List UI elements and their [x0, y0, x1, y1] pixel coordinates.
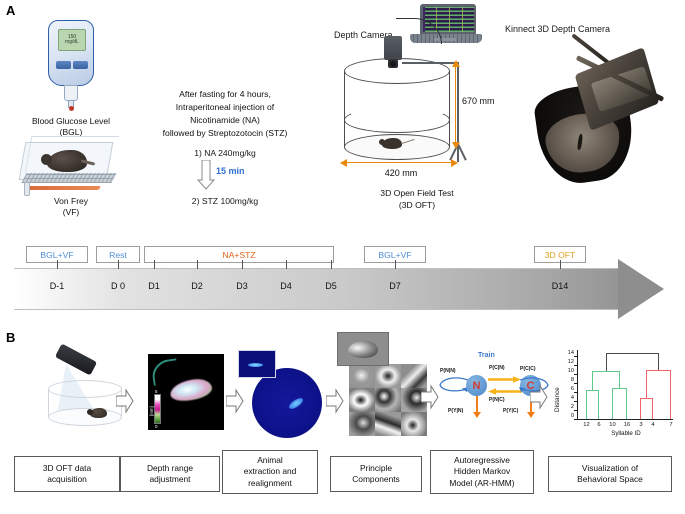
- dendrogram-merge-green-root: [592, 371, 620, 372]
- dendrogram-ytick: 4: [558, 395, 574, 401]
- pipeline-caption-2: Depth range adjustment: [120, 456, 220, 492]
- dendrogram-x-axis: [577, 419, 673, 420]
- dendrogram-ytick: 2: [558, 404, 574, 410]
- caption-3-line3: realignment: [244, 478, 297, 489]
- hmm-p-yn-label: P(Y|N): [448, 408, 463, 414]
- timeline-arrowhead: [618, 259, 664, 319]
- mouse-tail-depth: [150, 358, 179, 385]
- dendrogram-leaf-label: 16: [619, 422, 635, 428]
- pc-cell: [375, 412, 401, 436]
- timeline-day-label: D3: [222, 281, 262, 291]
- caption-2-line1: Depth range: [147, 463, 193, 474]
- pc-cell: [349, 412, 375, 436]
- pc-cell: [375, 364, 401, 388]
- timeline-tick: [242, 260, 243, 269]
- timeline-day-label: D14: [540, 281, 580, 291]
- protocol-line2: Intraperitoneal injection of: [126, 101, 324, 114]
- panel-b-letter: B: [6, 330, 15, 345]
- extraction-inset-blob: [248, 363, 263, 367]
- dendrogram-link-leaf-6: [598, 390, 599, 419]
- vf-mouse-icon: [47, 150, 87, 172]
- dendrogram-link-leaf-7: [670, 370, 671, 419]
- protocol-text-block: After fasting for 4 hours, Intraperitone…: [126, 88, 324, 140]
- height-dimension-label: 670 mm: [462, 96, 495, 106]
- dendrogram-ytick: 12: [558, 359, 574, 365]
- experiment-timeline: BGL+VF Rest NA+STZ BGL+VF 3D OFT D-1 D 0…: [14, 268, 664, 310]
- vf-caption: Von Frey (VF): [16, 196, 126, 219]
- pc-cell: [349, 364, 375, 388]
- pipeline-arrow-icon: [116, 388, 134, 414]
- dendrogram-y-axis: [577, 350, 578, 420]
- arena-rim-top: [48, 380, 122, 398]
- glucometer-neck: [64, 85, 78, 101]
- hmm-p-cc-label: P(C|C): [520, 366, 536, 372]
- caption-1-line1: 3D OFT data: [43, 463, 91, 474]
- caption-2-line2: adjustment: [147, 474, 193, 485]
- depth-scale-unit: [mm]: [149, 406, 154, 416]
- timeline-day-label: D-1: [37, 281, 77, 291]
- dim-arrow-up-icon: [451, 60, 461, 68]
- dendrogram-link-cluster-b: [619, 371, 620, 388]
- height-dimension-line: [455, 66, 456, 144]
- dendrogram-ytick-mark: [574, 401, 577, 402]
- oft-caption-line2: (3D OFT): [352, 200, 482, 212]
- depth-camera-icon: [384, 36, 402, 60]
- glucometer-reading-unit: mg/dL: [65, 40, 79, 45]
- pipeline-arrow-icon: [530, 384, 548, 410]
- arena-inner-rim: [344, 107, 450, 133]
- kinect-camera-label: Kinnect 3D Depth Camera: [505, 24, 610, 34]
- pipeline-arrow-icon: [326, 388, 344, 414]
- stand-vertical-pole: [457, 62, 459, 146]
- caption-1-line2: acquisition: [43, 474, 91, 485]
- dendrogram-ytick-mark: [574, 374, 577, 375]
- timeline-tick: [118, 260, 119, 269]
- caption-5-line3: Model (AR-HMM): [449, 478, 514, 489]
- dendrogram-link-leaf-16: [626, 388, 627, 419]
- timeline-event-na-stz[interactable]: NA+STZ: [144, 246, 334, 263]
- dendrogram-leaf-label: 10: [605, 422, 620, 428]
- glucometer-button-right: [73, 61, 88, 69]
- arena-rim-bottom: [48, 408, 122, 426]
- dendrogram-link-cluster-c: [646, 370, 647, 398]
- dendrogram-leaf-label: 7: [664, 422, 678, 428]
- dendrogram-ytick-mark: [574, 365, 577, 366]
- hmm-p-nn-label: P(N|N): [440, 368, 456, 374]
- dendrogram-leaf-label: 6: [592, 422, 606, 428]
- depth-scale-max: 5: [155, 389, 157, 394]
- dendrogram-chart: Distance 0 2 4 6 8 10 12 14 12 6 10 16 3…: [552, 348, 678, 440]
- caption-3-line1: Animal: [244, 455, 297, 466]
- extraction-arena-mask: [252, 368, 322, 438]
- timeline-day-label: D 0: [98, 281, 138, 291]
- caption-6-line1: Visualization of: [577, 463, 643, 474]
- dendrogram-link-leaf-4: [652, 398, 653, 419]
- vf-mesh-floor: [21, 173, 116, 183]
- timeline-tick: [331, 260, 332, 269]
- dendrogram-merge-red-root: [646, 370, 671, 371]
- dendrogram-merge-12-6: [586, 390, 599, 391]
- arena-mouse-icon: [382, 138, 402, 149]
- arena-wall-right: [449, 71, 450, 147]
- width-dimension-label: 420 mm: [358, 168, 444, 178]
- pipeline-caption-1: 3D OFT data acquisition: [14, 456, 120, 492]
- pipeline-caption-4: Principle Components: [330, 456, 422, 492]
- dendrogram-merge-root: [606, 353, 659, 354]
- caption-3-line2: extraction and: [244, 466, 297, 477]
- dendrogram-ytick: 8: [558, 377, 574, 383]
- width-dimension-line: [345, 162, 453, 163]
- timeline-tick: [395, 260, 396, 269]
- panel-a-letter: A: [6, 3, 15, 18]
- glucometer-body: 150 mg/dL: [48, 20, 94, 86]
- protocol-step-2: 2) STZ 100mg/kg: [126, 196, 324, 206]
- extraction-inset: [238, 350, 276, 378]
- hmm-node-n: N: [466, 375, 487, 396]
- hmm-emission-c-arrowhead-icon: [527, 412, 535, 418]
- down-arrow-icon: [197, 160, 215, 190]
- dendrogram-leaf-label: 4: [646, 422, 660, 428]
- open-field-test-diagram: [330, 52, 490, 172]
- pipeline-image-depth-range: 5 0 [mm]: [148, 354, 224, 430]
- dendrogram-ytick-mark: [574, 419, 577, 420]
- dendrogram-link-root-right: [658, 353, 659, 370]
- bgl-caption-line1: Blood Glucose Level: [2, 116, 140, 127]
- vf-caption-line1: Von Frey: [16, 196, 126, 207]
- glucometer-button-left: [56, 61, 71, 69]
- pc-template-inset: [337, 332, 389, 366]
- dendrogram-ytick: 10: [558, 368, 574, 374]
- blood-drop-icon: [69, 106, 74, 111]
- vf-caption-line2: (VF): [16, 207, 126, 218]
- timeline-day-label: D2: [177, 281, 217, 291]
- glucometer-screen: 150 mg/dL: [58, 29, 86, 51]
- hmm-p-nc-label: P(N|C): [489, 397, 505, 403]
- dendrogram-xlabel: Syllable ID: [578, 430, 674, 437]
- timeline-tick: [286, 260, 287, 269]
- pc-grid: [349, 364, 427, 436]
- timeline-tick: [197, 260, 198, 269]
- protocol-step-1: 1) NA 240mg/kg: [126, 148, 324, 158]
- dendrogram-ytick: 14: [558, 350, 574, 356]
- hmm-emission-n-arrowhead-icon: [473, 412, 481, 418]
- interval-label: 15 min: [216, 166, 245, 176]
- pipeline-caption-5: Autoregressive Hidden Markov Model (AR-H…: [430, 450, 534, 494]
- protocol-line1: After fasting for 4 hours,: [126, 88, 324, 101]
- hmm-p-yc-label: P(Y|C): [503, 408, 518, 414]
- kinect-camera-photo: [520, 38, 670, 188]
- caption-6-line2: Behavioral Space: [577, 474, 643, 485]
- pipeline-image-animal-extraction: [238, 350, 330, 436]
- dim-arrow-down-icon: [451, 141, 461, 149]
- oft-caption: 3D Open Field Test (3D OFT): [352, 188, 482, 211]
- vf-stand: [24, 182, 30, 196]
- protocol-line4: followed by Streptozotocin (STZ): [126, 127, 324, 140]
- dendrogram-merge-10-16: [612, 388, 627, 389]
- dendrogram-ytick-mark: [574, 392, 577, 393]
- protocol-line3: Nicotinamide (NA): [126, 114, 324, 127]
- depth-scale-min: 0: [155, 424, 157, 429]
- arena-wall-left: [344, 71, 345, 147]
- dendrogram-ytick-mark: [574, 356, 577, 357]
- dendrogram-merge-3-4: [640, 398, 653, 399]
- caption-5-line2: Hidden Markov: [449, 466, 514, 477]
- blood-glucose-meter-icon: 150 mg/dL: [40, 20, 102, 112]
- pc-cell: [375, 388, 401, 412]
- von-frey-apparatus-icon: [14, 140, 126, 198]
- pipeline-arrow-icon: [421, 384, 439, 410]
- dendrogram-link-root-left: [606, 353, 607, 371]
- caption-5-line1: Autoregressive: [449, 455, 514, 466]
- dim-arrow-right-icon: [450, 158, 458, 168]
- timeline-tick: [560, 260, 561, 269]
- timeline-day-label: D5: [311, 281, 351, 291]
- dim-arrow-left-icon: [340, 158, 348, 168]
- oft-caption-line1: 3D Open Field Test: [352, 188, 482, 200]
- dendrogram-ytick: 0: [558, 413, 574, 419]
- dendrogram-link-leaf-12: [586, 390, 587, 419]
- caption-4-line1: Principle: [352, 463, 400, 474]
- timeline-day-label: D7: [375, 281, 415, 291]
- pipeline-caption-6: Visualization of Behavioral Space: [548, 456, 672, 492]
- dendrogram-ytick: 6: [558, 386, 574, 392]
- vf-filament-rod: [25, 186, 101, 190]
- pc-cell: [401, 412, 427, 436]
- caption-4-line2: Components: [352, 474, 400, 485]
- pc-cell: [349, 388, 375, 412]
- dendrogram-link-leaf-10: [612, 388, 613, 419]
- hmm-p-cn-label: P(C|N): [489, 365, 505, 371]
- mouse-icon: [90, 408, 107, 418]
- timeline-tick: [57, 260, 58, 269]
- hmm-train-label: Train: [478, 352, 495, 359]
- dendrogram-link-leaf-3: [640, 398, 641, 419]
- dendrogram-ytick-mark: [574, 410, 577, 411]
- dendrogram-link-cluster-a: [592, 371, 593, 390]
- arena-wall-left: [48, 389, 49, 417]
- timeline-tick: [154, 260, 155, 269]
- timeline-day-label: D4: [266, 281, 306, 291]
- pipeline-image-principal-components: [343, 346, 433, 436]
- depth-colorbar: [154, 394, 161, 424]
- dendrogram-ytick-mark: [574, 383, 577, 384]
- timeline-day-label: D1: [134, 281, 174, 291]
- pipeline-caption-3: Animal extraction and realignment: [222, 450, 318, 494]
